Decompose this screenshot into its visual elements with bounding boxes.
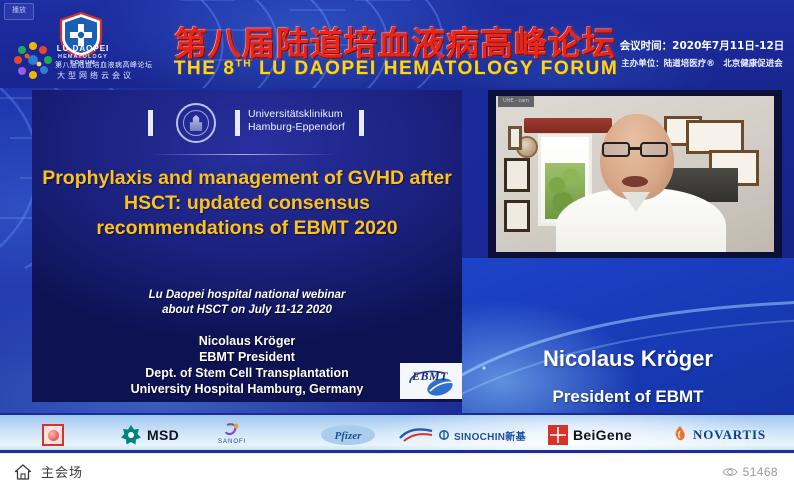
svg-text:Pfizer: Pfizer — [335, 430, 363, 442]
sponsor-logo-beigene: BeiGene — [548, 423, 632, 447]
cell-cluster-logo — [12, 40, 54, 82]
presentation-slide[interactable]: Universitätsklinikum Hamburg-Eppendorf P… — [32, 90, 462, 402]
uke-bar-left — [148, 110, 153, 136]
ebmt-logo-text: EBMT — [412, 369, 448, 384]
sponsor-logo-novartis: NOVARTIS — [672, 423, 766, 447]
uke-institution-text: Universitätsklinikum Hamburg-Eppendorf — [248, 108, 360, 134]
sponsor-logo-sanofi: SANOFI — [218, 423, 246, 447]
conference-banner: 播放 LU DAOPEI HEMATOLOGY FORUM — [0, 0, 794, 88]
slide-title: Prophylaxis and management of GVHD after… — [42, 166, 452, 241]
wall-certificate-2 — [686, 120, 744, 154]
slide-author-block: Nicolaus Kröger EBMT President Dept. of … — [42, 333, 452, 397]
banner-title-english: THE 8TH LU DAOPEI HEMATOLOGY FORUM — [170, 58, 622, 80]
stream-stage[interactable]: Universitätsklinikum Hamburg-Eppendorf P… — [0, 88, 794, 413]
lu-daopei-logo-name: LU DAOPEI — [44, 44, 122, 53]
sponsor-logo-pfizer: Pfizer — [320, 423, 376, 447]
banner-title-en-rest: LU DAOPEI HEMATOLOGY FORUM — [252, 58, 618, 79]
forum-cn-type: 大型网络云会议 — [57, 70, 143, 81]
wall-picture-1 — [504, 158, 530, 192]
author-role: EBMT President — [42, 349, 452, 365]
slide-divider — [150, 154, 336, 155]
webinar-line-2: about HSCT on July 11-12 2020 — [42, 303, 452, 318]
novartis-icon — [672, 425, 688, 445]
author-name: Nicolaus Kröger — [42, 333, 452, 349]
author-dept: Dept. of Stem Cell Transplantation — [42, 365, 452, 381]
msd-cross-icon — [120, 424, 142, 446]
sanofi-label: SANOFI — [218, 439, 246, 445]
speaker-mouth — [622, 176, 648, 187]
live-stream-page: 播放 LU DAOPEI HEMATOLOGY FORUM — [0, 0, 794, 489]
pfizer-icon: Pfizer — [320, 424, 376, 446]
conference-date: 会议时间：2020年7月11日-12日 — [618, 38, 786, 53]
beigene-icon — [548, 425, 568, 445]
conference-host: 主办单位：陆道培医疗® 北京健康促进会 — [618, 57, 786, 69]
sponsor-logo-msd: MSD — [120, 423, 179, 447]
sinochin-circle-icon — [439, 430, 449, 440]
glasses-bridge — [630, 147, 640, 150]
uke-logo: Universitätsklinikum Hamburg-Eppendorf — [140, 102, 370, 144]
view-counter: 51468 — [722, 465, 778, 479]
glasses-lens-left — [602, 142, 630, 157]
recording-badge: 播放 — [4, 3, 34, 20]
wall-picture-2 — [504, 200, 530, 232]
venue-tab-main-hall[interactable]: 主会场 — [14, 462, 83, 481]
webinar-line-1: Lu Daopei hospital national webinar — [42, 288, 452, 303]
venue-label: 主会场 — [41, 462, 83, 481]
video-overlay-tag: UHE · cam — [498, 96, 534, 107]
speaker-role: President of EBMT — [472, 387, 784, 407]
uke-line-2: Hamburg-Eppendorf — [248, 121, 360, 134]
conference-meta: 会议时间：2020年7月11日-12日 主办单位：陆道培医疗® 北京健康促进会 — [618, 38, 786, 69]
novartis-label: NOVARTIS — [693, 427, 766, 443]
banner-title-en-ordinal: TH — [236, 59, 253, 70]
sponsor-strip: MSD SANOFI Pfizer SINOCHIN新基 — [0, 413, 794, 453]
ruby-square-icon — [42, 424, 64, 446]
speaker-video-feed[interactable]: UHE · cam — [488, 90, 782, 258]
eye-icon — [722, 466, 738, 478]
sinochin-mark-icon — [398, 426, 434, 444]
uke-seal-icon — [176, 103, 216, 143]
msd-label: MSD — [147, 427, 179, 443]
glasses-lens-right — [640, 142, 668, 157]
uke-bar-right — [359, 110, 364, 136]
forum-cn-subtitle: 第八届陆道培血液病高峰论坛 — [55, 60, 141, 70]
banner-title-en-prefix: THE 8 — [174, 58, 236, 79]
speaker-info-panel: Nicolaus Kröger President of EBMT Prophy… — [462, 258, 794, 413]
author-affiliation: University Hospital Hamburg, Germany — [42, 381, 452, 397]
window-curtain — [524, 118, 612, 133]
speaker-glasses-icon — [600, 142, 674, 158]
sponsor-logo-sinochin: SINOCHIN新基 — [398, 423, 526, 447]
uke-line-1: Universitätsklinikum — [248, 108, 360, 121]
page-footer: 主会场 51468 — [0, 453, 794, 490]
views-count: 51468 — [743, 465, 778, 479]
speaker-name: Nicolaus Kröger — [472, 346, 784, 372]
beigene-label: BeiGene — [573, 427, 632, 443]
uke-bar-middle — [235, 110, 240, 136]
sinochin-label: SINOCHIN新基 — [454, 428, 526, 443]
sponsor-logo-ruby — [42, 423, 64, 447]
sanofi-icon — [223, 423, 241, 438]
ebmt-logo: EBMT — [400, 363, 462, 399]
wall-picture-3 — [508, 126, 522, 150]
uke-seal-core — [188, 115, 204, 131]
webcam-picture: UHE · cam — [496, 96, 774, 252]
slide-webinar-info: Lu Daopei hospital national webinar abou… — [42, 288, 452, 318]
home-icon[interactable] — [14, 463, 32, 481]
